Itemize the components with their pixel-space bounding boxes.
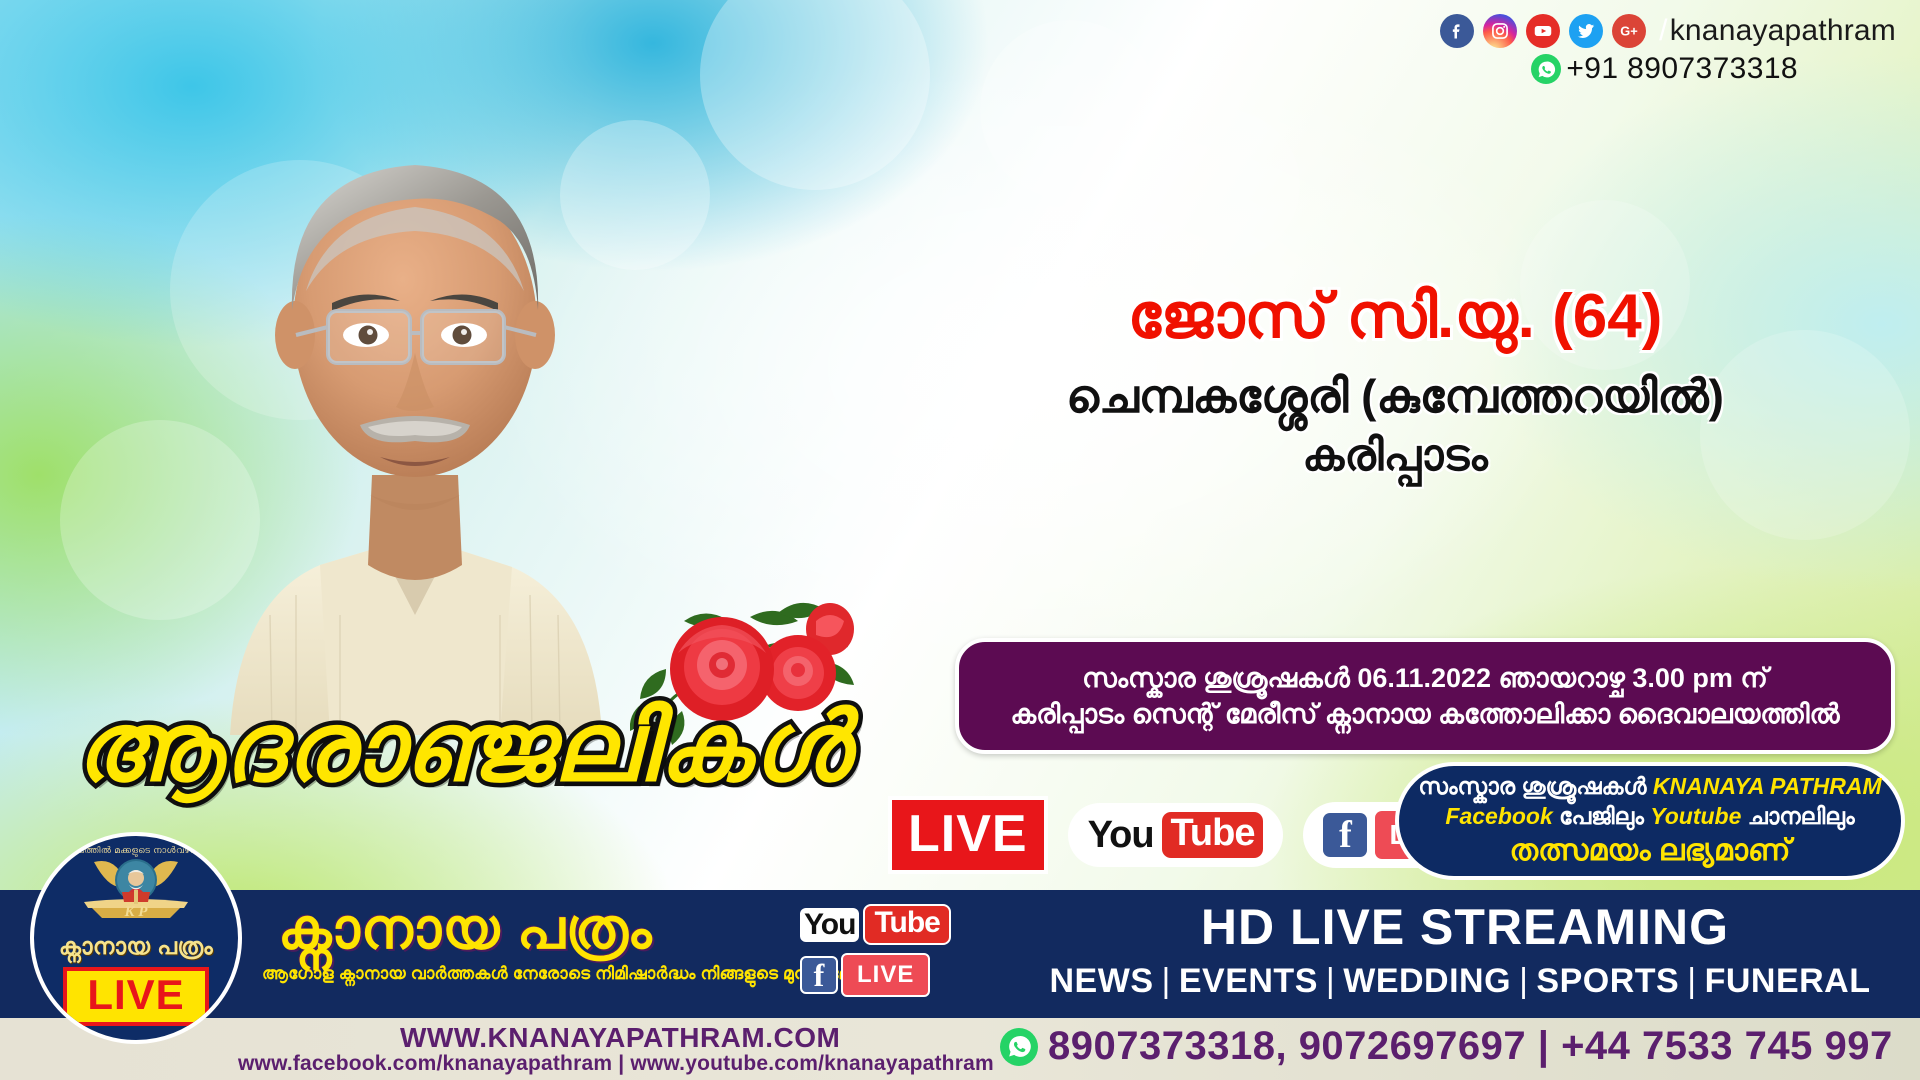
header-whatsapp-row[interactable]: +91 8907373318 <box>1531 52 1798 86</box>
deceased-house-name: ചെമ്പകശ്ശേരി (കുമ്പേത്തറയിൽ) <box>930 369 1860 424</box>
whatsapp-icon[interactable] <box>1000 1028 1038 1066</box>
stream-badge-line-3: തത്സമയം ലഭ്യമാണ് <box>1510 832 1791 870</box>
svg-text:G+: G+ <box>1620 24 1637 39</box>
portrait-of-deceased <box>200 95 630 735</box>
tribute-word: ആദരാഞ്ജലികൾ <box>75 700 850 796</box>
youtube-you-text: You <box>1088 814 1154 857</box>
category-separator: | <box>1326 962 1335 1000</box>
youtube-tube-text: Tube <box>1162 812 1264 858</box>
facebook-f-icon: f <box>1323 813 1367 857</box>
category-news: NEWS <box>1050 962 1154 1000</box>
footer-youtube-badge[interactable]: You Tube <box>800 904 951 945</box>
stream-badge-channel-word: ചാനലിലും <box>1741 803 1854 829</box>
facebook-icon[interactable] <box>1440 14 1474 48</box>
category-funeral: FUNERAL <box>1705 962 1871 1000</box>
footer-social-links[interactable]: www.facebook.com/knanayapathram | www.yo… <box>238 1052 994 1076</box>
footer-brand-title: ക്നാനായ പത്രം <box>278 896 652 963</box>
youtube-badge[interactable]: You Tube <box>1068 803 1284 867</box>
social-links-row[interactable]: G+ /knanayapathram <box>1440 14 1896 48</box>
handle-slash: / <box>1659 14 1668 47</box>
live-badge[interactable]: LIVE <box>888 796 1048 874</box>
streaming-categories: NEWS|EVENTS|WEDDING|SPORTS|FUNERAL <box>1010 962 1910 1001</box>
whatsapp-icon[interactable] <box>1531 54 1561 84</box>
funeral-banner-line-1: സംസ്കാര ശുശ്രൂഷകൾ 06.11.2022 ഞായറാഴ്ച 3.… <box>1082 660 1768 696</box>
stream-badge-line-1: സംസ്കാര ശുശ്രൂഷകൾ KNANAYA PATHRAM <box>1418 772 1881 802</box>
hd-live-streaming-title: HD LIVE STREAMING <box>1020 898 1910 956</box>
footer-bar: ദൈവനാമത്തിൽ മക്കളുടെ നാൾവഴിനാമങ്ങൾ K P <box>0 890 1920 1080</box>
header-whatsapp-number: +91 8907373318 <box>1566 52 1798 86</box>
youtube-icon[interactable] <box>1526 14 1560 48</box>
stream-badge-facebook: Facebook <box>1445 803 1552 829</box>
handle-text: knanayapathram <box>1670 14 1896 47</box>
footer-youtube-tube: Tube <box>863 904 950 945</box>
funeral-details-banner: സംസ്കാര ശുശ്രൂഷകൾ 06.11.2022 ഞായറാഴ്ച 3.… <box>955 638 1895 754</box>
twitter-icon[interactable] <box>1569 14 1603 48</box>
footer-facebook-live-badge[interactable]: f LIVE <box>800 953 930 997</box>
logo-name-text: ക്നാനായ പത്രം <box>59 933 213 960</box>
deceased-name: ജോസ് സി.യു. (64) <box>930 280 1860 353</box>
footer-facebook-live-text: LIVE <box>841 953 930 997</box>
footer-youtube-you: You <box>800 908 859 942</box>
footer-contact-row[interactable]: 8907373318, 9072697697 | +44 7533 745 99… <box>1000 1024 1893 1069</box>
stream-badge-youtube: Youtube <box>1650 803 1741 829</box>
footer-brand-tagline: ആഗോള ക്നാനായ വാർത്തകൾ നേരോടെ നിമിഷാർദ്ധം… <box>262 964 872 984</box>
googleplus-icon[interactable]: G+ <box>1612 14 1646 48</box>
social-handle: /knanayapathram <box>1659 14 1896 48</box>
stream-badge-prefix: സംസ്കാര ശുശ്രൂഷകൾ <box>1418 773 1653 799</box>
category-events: EVENTS <box>1179 962 1318 1000</box>
memorial-poster: G+ /knanayapathram +91 8907373318 <box>0 0 1920 1080</box>
footer-facebook-f-icon: f <box>800 956 838 994</box>
stream-badge-brand: KNANAYA PATHRAM <box>1653 773 1882 799</box>
stream-badge-line-2: Facebook പേജിലും Youtube ചാനലിലും <box>1445 802 1854 832</box>
footer-phone-numbers: 8907373318, 9072697697 | +44 7533 745 99… <box>1048 1024 1893 1069</box>
footer-website[interactable]: WWW.KNANAYAPATHRAM.COM <box>400 1022 840 1054</box>
category-separator: | <box>1519 962 1528 1000</box>
category-sports: SPORTS <box>1536 962 1679 1000</box>
deceased-place: കരിപ്പാടം <box>930 430 1860 483</box>
funeral-banner-line-2: കരിപ്പാടം സെന്റ് മേരീസ് ക്നാനായ കത്തോലിക… <box>1010 696 1839 732</box>
knanaya-pathram-logo[interactable]: ദൈവനാമത്തിൽ മക്കളുടെ നാൾവഴിനാമങ്ങൾ K P <box>30 832 242 1044</box>
category-separator: | <box>1687 962 1696 1000</box>
deceased-info: ജോസ് സി.യു. (64) ചെമ്പകശ്ശേരി (കുമ്പേത്ത… <box>930 280 1860 483</box>
category-wedding: WEDDING <box>1343 962 1511 1000</box>
streaming-availability-badge: സംസ്കാര ശുശ്രൂഷകൾ KNANAYA PATHRAM Facebo… <box>1395 762 1905 880</box>
svg-text:K P: K P <box>124 904 149 920</box>
category-separator: | <box>1162 962 1171 1000</box>
stream-badge-page-word: പേജിലും <box>1553 803 1650 829</box>
logo-live-badge[interactable]: LIVE <box>63 967 208 1026</box>
instagram-icon[interactable] <box>1483 14 1517 48</box>
footer-social-badges[interactable]: You Tube f LIVE <box>800 904 951 997</box>
saint-figure-ship-logo: K P <box>70 852 202 931</box>
